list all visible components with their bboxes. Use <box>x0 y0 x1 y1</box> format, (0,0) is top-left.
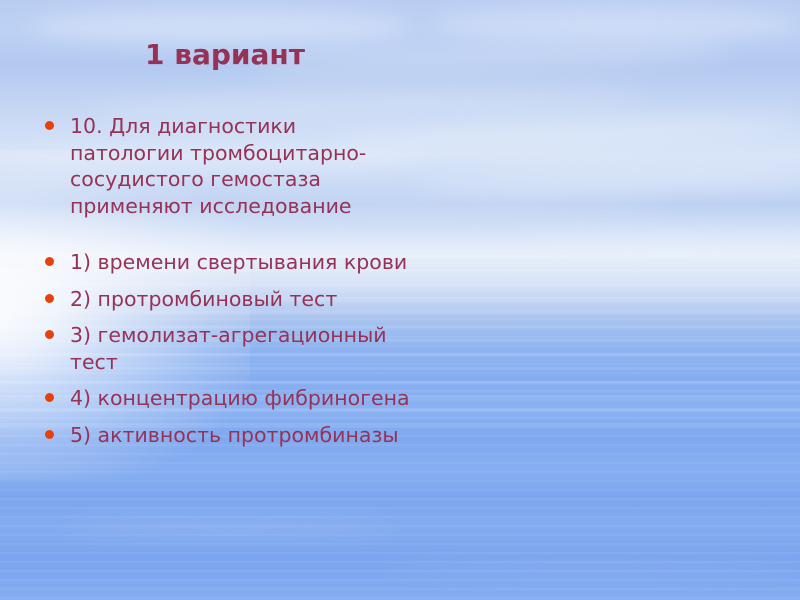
column-variant-1: 1 вариант 10. Для диагностики патологии … <box>0 0 410 600</box>
list-item: 2) протромбиновый тест <box>40 286 412 313</box>
bullet-dot-icon <box>45 430 54 439</box>
column-variant-2: 2 вариант 10. Нарушение функции тромбоци… <box>440 0 800 600</box>
bullet-list-variant-1: 10. Для диагностики патологии тромбоцита… <box>40 113 412 458</box>
list-item-text: 4) концентрацию фибриногена <box>70 386 410 410</box>
bullet-dot-icon <box>45 294 54 303</box>
list-item-text: 1) времени свертывания крови <box>70 250 407 274</box>
bullet-dot-icon <box>45 121 54 130</box>
list-item: 4) концентрацию фибриногена <box>40 385 412 412</box>
list-item: 10. Для диагностики патологии тромбоцита… <box>40 113 412 219</box>
list-item-text: 3) гемолизат-агрегационный тест <box>70 323 387 374</box>
list-item: 1) времени свертывания крови <box>40 249 412 276</box>
column-title-variant-1: 1 вариант <box>40 38 410 71</box>
bullet-dot-icon <box>45 393 54 402</box>
list-item-text: 5) активность протромбиназы <box>70 423 399 447</box>
list-item-text: 2) протромбиновый тест <box>70 287 337 311</box>
list-item-text: 10. Для диагностики патологии тромбоцита… <box>70 114 366 218</box>
presentation-slide: 1 вариант 10. Для диагностики патологии … <box>0 0 800 600</box>
bullet-dot-icon <box>45 330 54 339</box>
bullet-dot-icon <box>45 257 54 266</box>
list-item: 3) гемолизат-агрегационный тест <box>40 322 412 375</box>
slide-content: 1 вариант 10. Для диагностики патологии … <box>0 0 800 600</box>
list-item: 5) активность протромбиназы <box>40 422 412 449</box>
